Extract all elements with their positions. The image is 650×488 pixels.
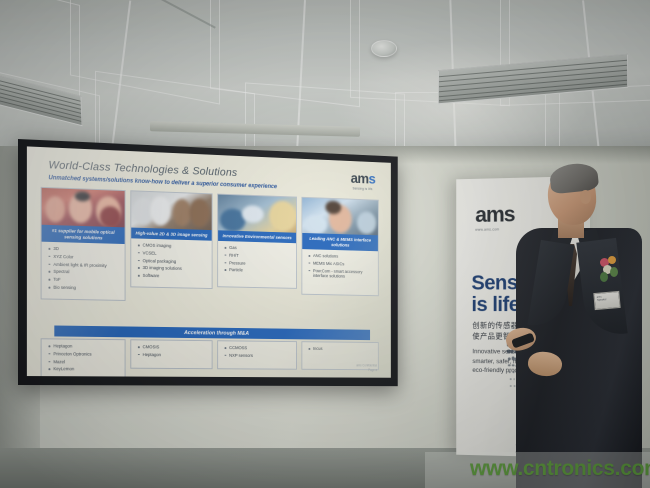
woman-in-car-photo <box>302 198 378 236</box>
bullet: 3D imaging solutions <box>138 265 208 272</box>
bullet: ToF <box>48 277 120 284</box>
watermark-text: www.cntronics.com <box>470 457 650 481</box>
name-badge-line2: Speaker <box>597 297 617 302</box>
slide-column-2-bullets: CMOS imaging VCSEL Optical packaging 3D … <box>131 238 211 288</box>
ams-logo-tagline: Sensing is life. <box>351 186 376 191</box>
ams-logo-accent: s <box>369 171 376 187</box>
bullet: Pow:Com - smart accessory interface solu… <box>309 268 375 280</box>
ma-column-1: Heptagon Princeton Optronics Mazel KeyLe… <box>41 338 126 377</box>
slide-columns: #1 supplier for mobile optical sensing s… <box>41 187 381 200</box>
smoke-detector <box>371 40 397 57</box>
name-badge: ams Speaker <box>593 291 620 310</box>
boutonniere-flower <box>598 256 620 284</box>
bullet: Particle <box>225 268 293 275</box>
slide-column-4: Leading ANC & MEMS interface solutions A… <box>301 197 378 296</box>
bullet: Heptagon <box>138 352 208 358</box>
bullet: Bio sensing <box>48 285 120 292</box>
bullet: MEMS Mic ASICs <box>309 261 375 268</box>
bullet: XYZ Color <box>48 254 120 261</box>
bullet: Incus <box>309 346 375 352</box>
bullet: VCSEL <box>138 250 208 257</box>
presenter: ams Speaker <box>498 160 650 488</box>
bullet: ANC solutions <box>309 253 375 260</box>
slide-footer-text: ams Confidential <box>356 364 377 368</box>
bullet: KeyLemon <box>48 367 120 373</box>
bullet: 3D <box>48 246 120 254</box>
bullet: NXP sensors <box>225 353 293 359</box>
bullet: Software <box>138 273 208 280</box>
bullet: Gas <box>225 245 293 252</box>
slide-column-2: High-value 2D & 3D image sensing CMOS im… <box>130 190 212 289</box>
ams-logo-mark: am <box>351 170 369 187</box>
bullet: Optical packaging <box>138 258 208 265</box>
tablet-user-photo <box>218 195 296 233</box>
bullet: Spectral <box>48 269 120 276</box>
acceleration-bar-label: Acceleration through M&A <box>184 330 249 337</box>
projection-screen: World-Class Technologies & Solutions Unm… <box>18 139 398 386</box>
bullet: CMOSIS <box>138 344 208 350</box>
slide-column-1: #1 supplier for mobile optical sensing s… <box>41 187 126 301</box>
face-scan-photo <box>131 191 211 230</box>
bullet: CCMOSS <box>225 345 293 351</box>
bullet: Heptagon <box>48 343 120 349</box>
slide-column-3: Innovative Environmental sensors Gas RH/… <box>217 194 297 289</box>
bullet: CMOS imaging <box>138 242 208 249</box>
slide-column-1-bullets: 3D XYZ Color Ambient light & IR proximit… <box>42 242 125 300</box>
slide-column-4-bullets: ANC solutions MEMS Mic ASICs Pow:Com - s… <box>302 249 378 295</box>
ams-logo: ams Sensing is life. <box>351 171 376 191</box>
slide-page-number: Page 8 <box>356 368 377 372</box>
bullet: Mazel <box>48 359 120 365</box>
slide-column-3-bullets: Gas RH/T Pressure Particle <box>218 241 296 288</box>
bullet: Pressure <box>225 260 293 267</box>
slide-footer: ams Confidential Page 8 <box>356 364 377 373</box>
acceleration-bar: Acceleration through M&A <box>54 325 370 340</box>
bullet: RH/T <box>225 252 293 259</box>
bullet: Ambient light & IR proximity <box>48 261 120 268</box>
ma-column-3: CCMOSS NXP sensors <box>217 340 297 369</box>
bullet: Princeton Optronics <box>48 351 120 357</box>
photo-scene: World-Class Technologies & Solutions Unm… <box>0 0 650 488</box>
presentation-slide: World-Class Technologies & Solutions Unm… <box>27 146 391 377</box>
ma-column-2: CMOSIS Heptagon <box>130 339 212 369</box>
selfie-group-photo <box>42 188 125 227</box>
presenter-ear <box>580 190 591 204</box>
